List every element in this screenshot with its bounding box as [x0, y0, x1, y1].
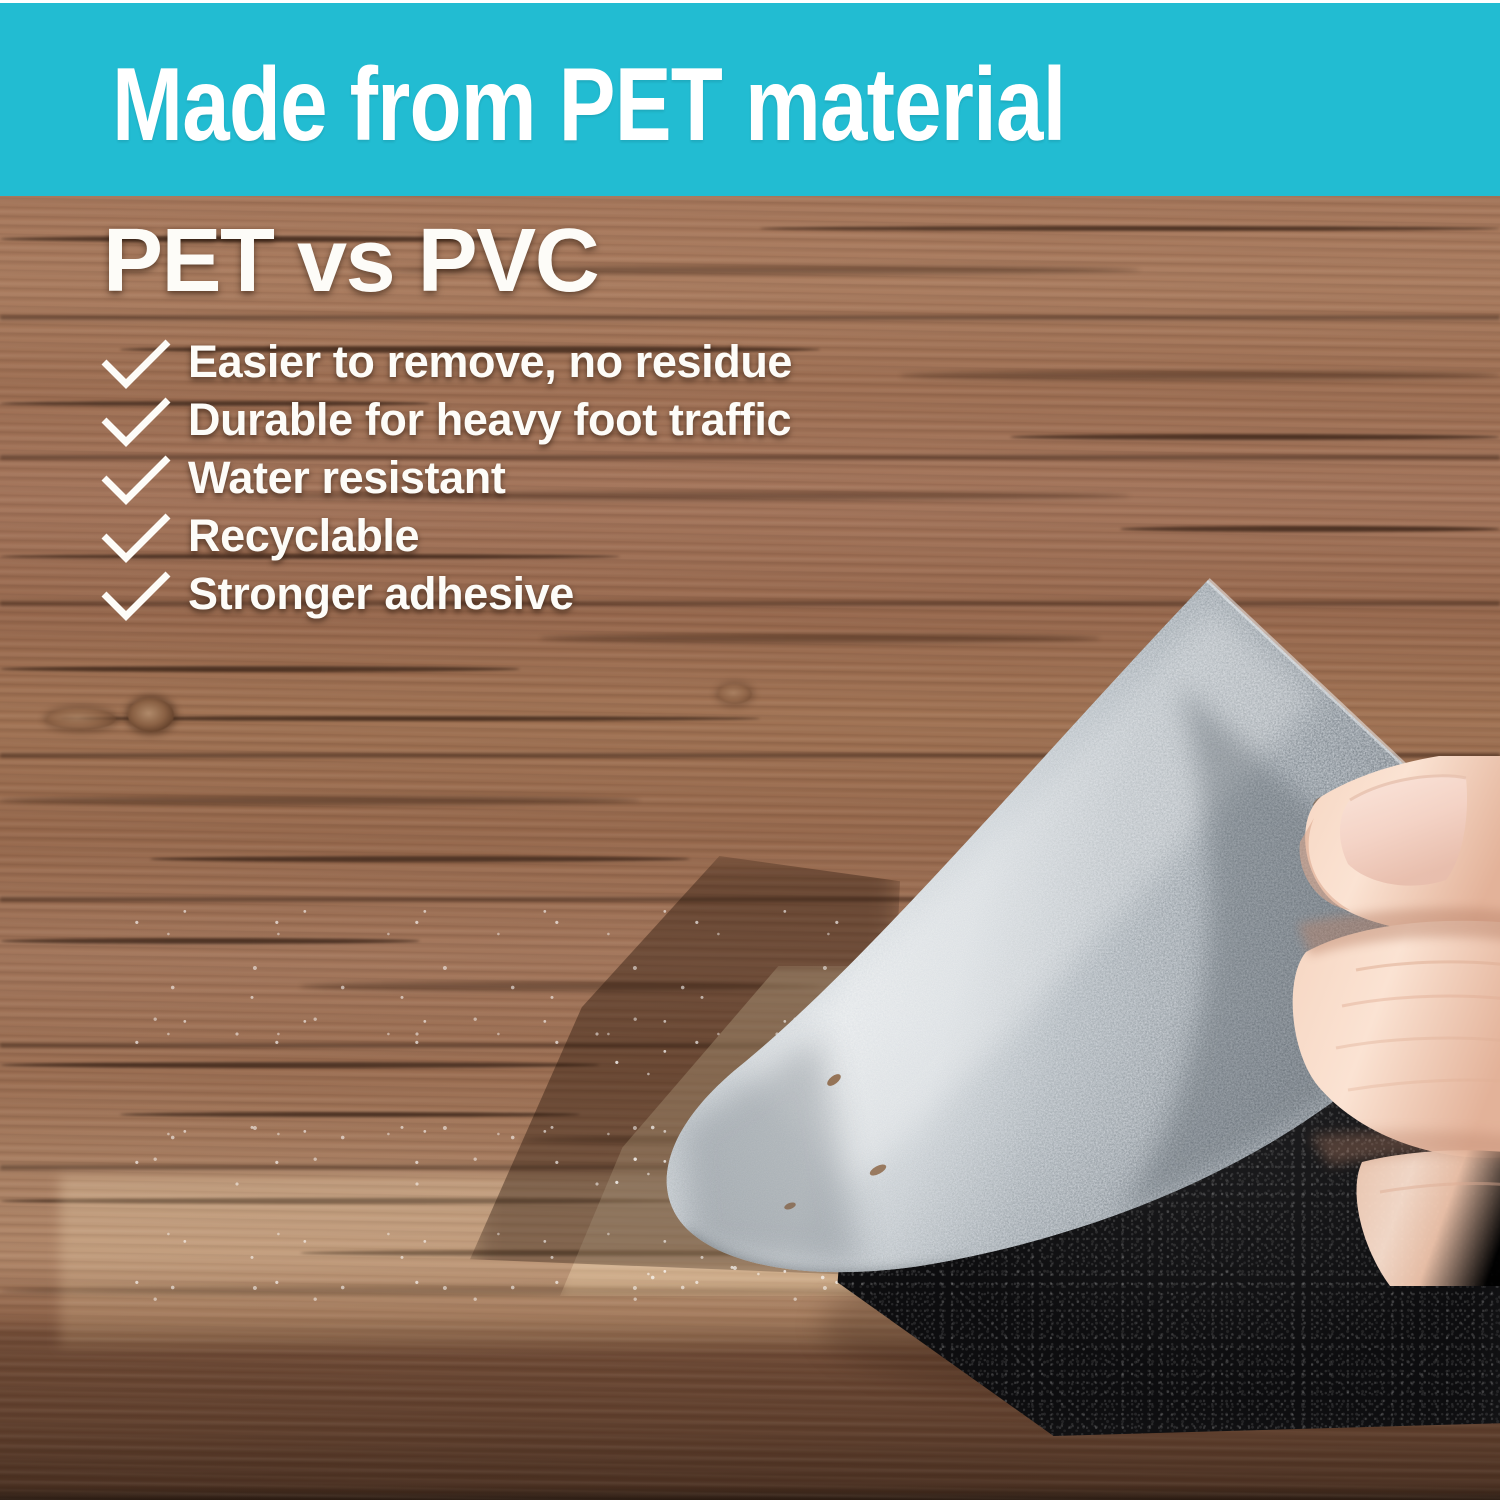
banner-title: Made from PET material	[112, 53, 1065, 157]
header-banner: Made from PET material	[0, 3, 1500, 196]
wood-grain-crack	[0, 236, 520, 242]
wood-knot	[46, 708, 116, 730]
wood-grain-crack	[0, 796, 640, 805]
wood-grain-crack	[120, 346, 820, 353]
board-seam	[0, 454, 1500, 461]
wood-grain-crack	[150, 856, 690, 862]
product-photo	[0, 196, 1500, 1500]
product-infographic: Made from PET material	[0, 0, 1500, 1500]
wood-knot	[128, 698, 174, 732]
board-seam	[0, 314, 1500, 321]
wood-grain-crack	[0, 554, 620, 559]
wood-grain-crack	[0, 401, 430, 406]
hand-holding-tape	[1270, 756, 1500, 1286]
wood-grain-crack	[760, 226, 1500, 231]
wood-grain-crack	[1120, 526, 1500, 532]
wood-grain-crack	[900, 371, 1500, 380]
wood-grain-crack	[1010, 434, 1500, 440]
wood-grain-crack	[0, 666, 520, 672]
wood-grain-crack	[380, 266, 1140, 274]
wood-grain-crack	[250, 492, 1130, 500]
